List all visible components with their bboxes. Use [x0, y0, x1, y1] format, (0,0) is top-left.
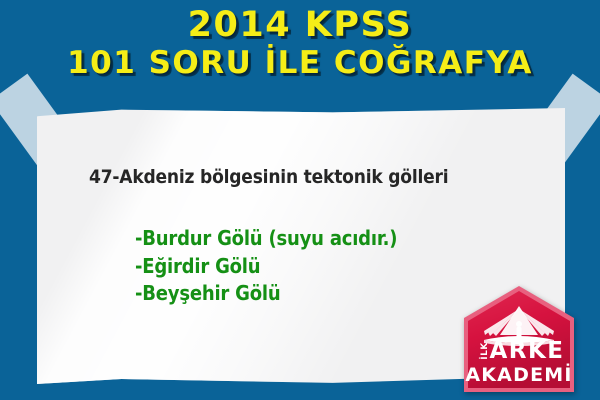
title-block: 2014 KPSS 101 SORU İLE COĞRAFYA [0, 8, 600, 79]
slide-canvas: 2014 KPSS 101 SORU İLE COĞRAFYA 47-Akden… [0, 0, 600, 400]
logo-name-text: ARKE [460, 340, 578, 363]
page-title-line-1: 2014 KPSS [0, 8, 600, 43]
logo-subtitle-text: AKADEMİ [460, 366, 578, 385]
answer-item: -Beyşehir Gölü [135, 280, 397, 308]
answer-list: -Burdur Gölü (suyu acıdır.) -Eğirdir Göl… [135, 225, 397, 308]
page-title-line-2: 101 SORU İLE COĞRAFYA [0, 48, 600, 79]
answer-item: -Eğirdir Gölü [135, 253, 397, 281]
arke-akademi-logo: İLK ARKE AKADEMİ [460, 284, 578, 394]
question-text: 47-Akdeniz bölgesinin tektonik gölleri [89, 166, 448, 188]
answer-item: -Burdur Gölü (suyu acıdır.) [135, 225, 397, 253]
